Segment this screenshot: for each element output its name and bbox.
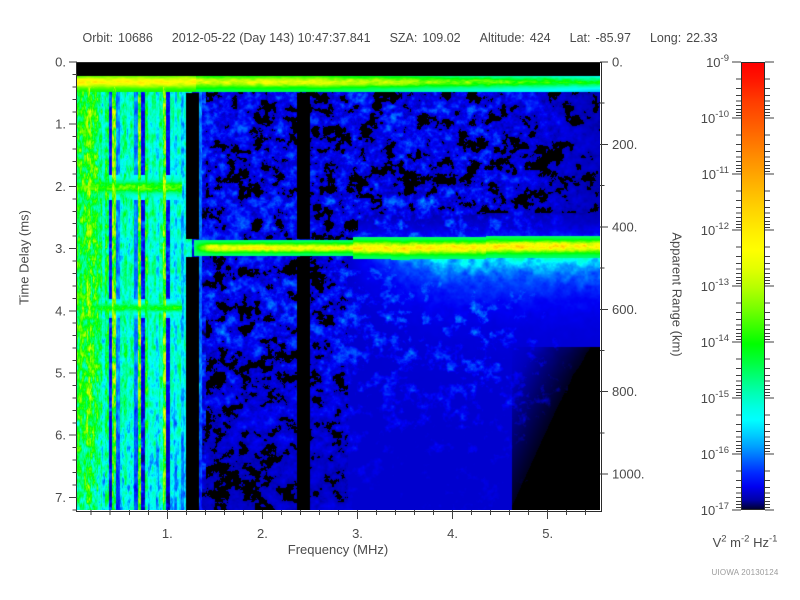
header-field-value: 424 [530, 31, 551, 45]
header-field-2: SZA:109.02 [390, 31, 461, 45]
units-metres: m-2 [730, 535, 749, 550]
header-field-key: SZA: [390, 31, 418, 45]
units-hertz: Hz-1 [753, 535, 777, 550]
y-right-tick-label: 200. [612, 137, 637, 152]
y-left-tick-label: 2. [55, 179, 66, 194]
y-right-tick-label: 600. [612, 302, 637, 317]
colorbar-tick-label: 10-14 [701, 333, 729, 350]
spectrogram-plot-area [76, 62, 600, 510]
header-field-0: Orbit:10686 [82, 31, 152, 45]
header-field-5: Long:22.33 [650, 31, 718, 45]
spectrogram-image [76, 62, 600, 510]
colorbar-tick-label: 10-16 [701, 445, 729, 462]
colorbar-tick-label: 10-13 [701, 277, 729, 294]
y-left-tick-label: 3. [55, 241, 66, 256]
y-left-tick-label: 1. [55, 117, 66, 132]
y-axis-left-title: Time Delay (ms) [17, 198, 32, 318]
y-left-tick-label: 5. [55, 366, 66, 381]
header-field-1: 2012-05-22 (Day 143) 10:47:37.841 [172, 31, 371, 45]
header-field-3: Altitude:424 [480, 31, 551, 45]
y-right-tick-label: 1000. [612, 467, 645, 482]
colorbar-tick-label: 10-17 [701, 501, 729, 518]
footer-credit: UIOWA 20130124 [690, 568, 800, 577]
colorbar-tick-label: 10-9 [706, 53, 729, 70]
x-tick-label: 5. [542, 526, 553, 541]
header-field-key: Altitude: [480, 31, 525, 45]
x-tick-label: 2. [257, 526, 268, 541]
header-field-value: 22.33 [686, 31, 717, 45]
header-metadata-bar: Orbit:106862012-05-22 (Day 143) 10:47:37… [0, 29, 800, 47]
colorbar-tick-label: 10-15 [701, 389, 729, 406]
header-field-value: -85.97 [596, 31, 631, 45]
header-field-key: Orbit: [82, 31, 113, 45]
header-field-key: Lat: [570, 31, 591, 45]
y-left-tick-label: 4. [55, 303, 66, 318]
x-axis-title: Frequency (MHz) [76, 542, 600, 557]
colorbar [741, 62, 765, 510]
y-left-tick-label: 6. [55, 428, 66, 443]
y-axis-left: 0.1.2.3.4.5.6.7. [0, 62, 78, 512]
y-right-tick-label: 800. [612, 384, 637, 399]
y-right-tick-label: 0. [612, 55, 623, 70]
colorbar-gradient [741, 62, 765, 510]
y-left-tick-label: 7. [55, 490, 66, 505]
header-field-value: 2012-05-22 (Day 143) 10:47:37.841 [172, 31, 371, 45]
x-tick-label: 3. [352, 526, 363, 541]
header-field-value: 10686 [118, 31, 153, 45]
colorbar-units-label: V2 m-2 Hz-1 [690, 534, 800, 550]
colorbar-tick-label: 10-10 [701, 109, 729, 126]
header-field-4: Lat:-85.97 [570, 31, 631, 45]
header-field-key: Long: [650, 31, 681, 45]
y-right-tick-label: 400. [612, 219, 637, 234]
x-tick-label: 4. [447, 526, 458, 541]
y-left-tick-label: 0. [55, 55, 66, 70]
units-volts: V2 [713, 535, 727, 550]
colorbar-tick-label: 10-12 [701, 221, 729, 238]
header-field-value: 109.02 [422, 31, 460, 45]
x-tick-label: 1. [162, 526, 173, 541]
y-axis-right-title: Apparent Range (km) [670, 215, 685, 375]
colorbar-tick-label: 10-11 [702, 165, 730, 182]
